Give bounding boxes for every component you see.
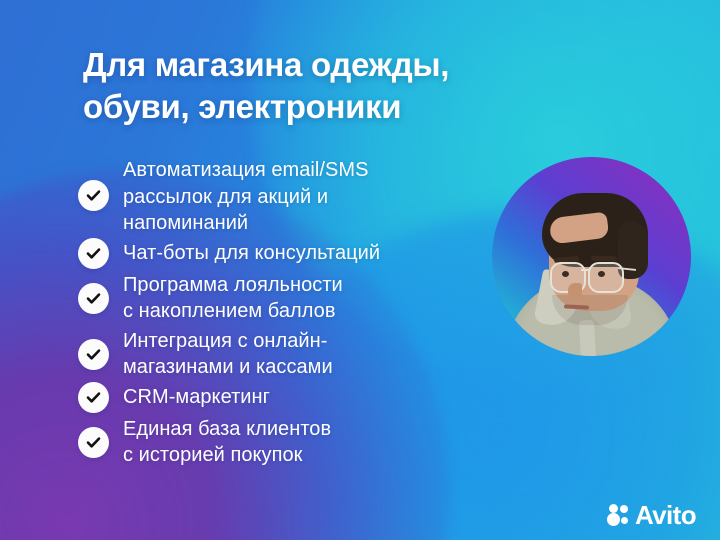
portrait-brow-right [591, 256, 617, 262]
check-icon [78, 238, 109, 269]
portrait-nose [568, 283, 582, 299]
check-icon [78, 339, 109, 370]
list-item: Интеграция с онлайн- магазинами и кассам… [78, 327, 478, 381]
list-item-line-1: Интеграция с онлайн- [123, 330, 327, 352]
portrait-eye-left [562, 271, 569, 277]
list-item: CRM-маркетинг [78, 383, 478, 413]
list-item: Чат-боты для консультаций [78, 239, 478, 269]
avito-logo-wordmark: Avito [635, 502, 696, 528]
list-item: Программа лояльности с накоплением балло… [78, 271, 478, 325]
list-item-line-2: магазинами и кассами [123, 356, 333, 378]
list-item-line-2: рассылок для акций и [123, 186, 328, 208]
list-item-line-3: напоминаний [123, 212, 248, 234]
portrait-placket [579, 320, 596, 356]
list-item: Единая база клиентов с историей покупок [78, 415, 478, 469]
list-item-line-2: с историей покупок [123, 444, 302, 466]
avito-logo: Avito [607, 502, 696, 528]
glasses-bridge [581, 269, 590, 271]
portrait-eye-right [598, 271, 605, 277]
list-item-line-1: Чат-боты для консультаций [123, 242, 380, 264]
list-item-label: Чат-боты для консультаций [123, 239, 380, 267]
portrait-illustration [492, 157, 691, 356]
portrait-photo [492, 157, 691, 356]
list-item-label: Интеграция с онлайн- магазинами и кассам… [123, 327, 333, 381]
list-item-label: Единая база клиентов с историей покупок [123, 415, 331, 469]
check-icon [78, 427, 109, 458]
list-item-line-2: с накоплением баллов [123, 300, 336, 322]
check-icon [78, 180, 109, 211]
list-item-line-1: CRM-маркетинг [123, 386, 270, 408]
promo-banner: Для магазина одежды, обуви, электроники … [0, 0, 720, 540]
list-item-line-1: Единая база клиентов [123, 418, 331, 440]
page-title-line-1: Для магазина одежды, [83, 44, 603, 86]
check-icon [78, 283, 109, 314]
page-title: Для магазина одежды, обуви, электроники [83, 44, 603, 128]
check-icon [78, 382, 109, 413]
list-item-line-1: Программа лояльности [123, 274, 343, 296]
list-item-label: CRM-маркетинг [123, 383, 270, 411]
list-item-label: Автоматизация email/SMS рассылок для акц… [123, 156, 369, 237]
list-item-label: Программа лояльности с накоплением балло… [123, 271, 343, 325]
list-item-line-1: Автоматизация email/SMS [123, 159, 369, 181]
list-item: Автоматизация email/SMS рассылок для акц… [78, 156, 478, 237]
avito-logo-mark-icon [607, 504, 630, 526]
feature-list: Автоматизация email/SMS рассылок для акц… [78, 156, 478, 471]
page-title-line-2: обуви, электроники [83, 86, 603, 128]
